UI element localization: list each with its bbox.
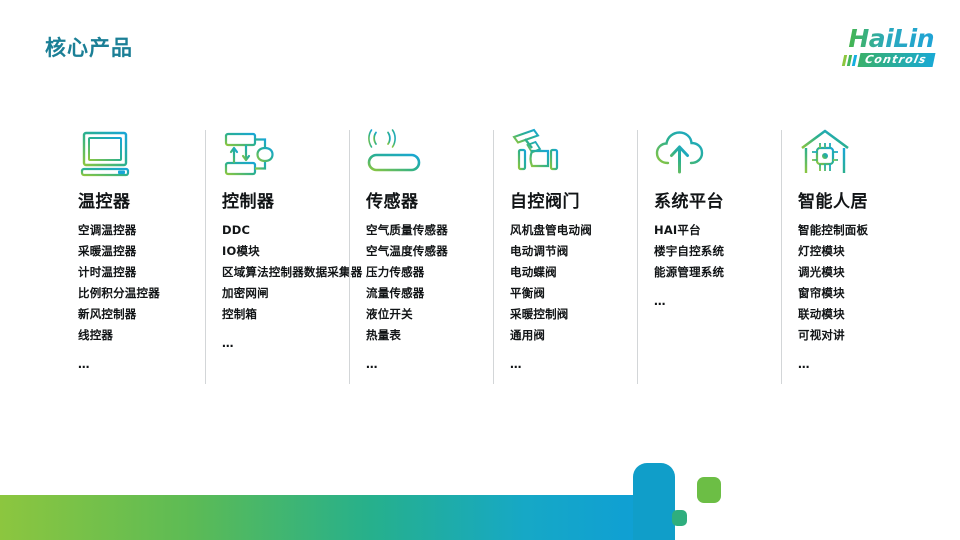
footer-hook-shape: [633, 463, 675, 540]
column-title: 智能人居: [798, 192, 942, 212]
product-column-thermostat: 温控器 空调温控器 采暖温控器 计时温控器 比例积分温控器 新风控制器 线控器 …: [78, 128, 222, 375]
product-column-sensor: 传感器 空气质量传感器 空气温度传感器 压力传感器 流量传感器 液位开关 热量表…: [366, 128, 510, 375]
list-item: 计时温控器: [78, 262, 222, 283]
list-item: 控制箱: [222, 304, 366, 325]
logo-wordmark: HaiLin: [812, 26, 934, 51]
column-item-list: 智能控制面板 灯控模块 调光模块 窗帘模块 联动模块 可视对讲 …: [798, 220, 942, 375]
wireless-sensor-icon: [366, 128, 424, 182]
column-title: 温控器: [78, 192, 222, 212]
decorative-square-small: [672, 510, 687, 526]
list-item: 窗帘模块: [798, 283, 942, 304]
list-item-more: …: [78, 354, 222, 375]
product-column-platform: 系统平台 HAI平台 楼宇自控系统 能源管理系统 …: [654, 128, 798, 375]
smart-home-chip-icon: [798, 128, 856, 182]
list-item: 平衡阀: [510, 283, 654, 304]
logo-subtitle: Controls: [858, 53, 936, 67]
list-item: 可视对讲: [798, 325, 942, 346]
list-item: IO模块: [222, 241, 366, 262]
brand-logo: HaiLin Controls: [812, 26, 934, 72]
column-divider: [205, 130, 206, 384]
list-item: 热量表: [366, 325, 510, 346]
slide-root: 核心产品 HaiLin Controls: [0, 0, 960, 540]
column-divider: [781, 130, 782, 384]
list-item: 风机盘管电动阀: [510, 220, 654, 241]
logo-subtitle-row: Controls: [812, 53, 934, 67]
page-title: 核心产品: [45, 38, 133, 59]
list-item-more: …: [654, 291, 798, 312]
column-title: 自控阀门: [510, 192, 654, 212]
list-item: 调光模块: [798, 262, 942, 283]
list-item: 采暖温控器: [78, 241, 222, 262]
list-item: 电动蝶阀: [510, 262, 654, 283]
list-item: 智能控制面板: [798, 220, 942, 241]
column-item-list: 空气质量传感器 空气温度传感器 压力传感器 流量传感器 液位开关 热量表 …: [366, 220, 510, 375]
column-item-list: 空调温控器 采暖温控器 计时温控器 比例积分温控器 新风控制器 线控器 …: [78, 220, 222, 375]
list-item: 联动模块: [798, 304, 942, 325]
column-title: 传感器: [366, 192, 510, 212]
list-item: 流量传感器: [366, 283, 510, 304]
monitor-icon: [78, 128, 136, 182]
list-item-more: …: [366, 354, 510, 375]
list-item-more: …: [798, 354, 942, 375]
list-item: 加密网闸: [222, 283, 366, 304]
list-item: 压力传感器: [366, 262, 510, 283]
list-item: 采暖控制阀: [510, 304, 654, 325]
list-item: 比例积分温控器: [78, 283, 222, 304]
list-item: 通用阀: [510, 325, 654, 346]
footer-gradient-bar: [0, 495, 640, 540]
column-divider: [637, 130, 638, 384]
column-item-list: HAI平台 楼宇自控系统 能源管理系统 …: [654, 220, 798, 312]
list-item: DDC: [222, 220, 366, 241]
list-item: 新风控制器: [78, 304, 222, 325]
column-title: 控制器: [222, 192, 366, 212]
product-column-controller: 控制器 DDC IO模块 区域算法控制器数据采集器 加密网闸 控制箱 …: [222, 128, 366, 375]
list-item: 灯控模块: [798, 241, 942, 262]
list-item-more: …: [222, 333, 366, 354]
column-item-list: 风机盘管电动阀 电动调节阀 电动蝶阀 平衡阀 采暖控制阀 通用阀 …: [510, 220, 654, 375]
cloud-upload-icon: [654, 128, 712, 182]
logo-bars-icon: [842, 55, 857, 66]
product-columns: 温控器 空调温控器 采暖温控器 计时温控器 比例积分温控器 新风控制器 线控器 …: [78, 128, 908, 375]
valve-icon: [510, 128, 568, 182]
controller-module-icon: [222, 128, 280, 182]
list-item-more: …: [510, 354, 654, 375]
list-item: 楼宇自控系统: [654, 241, 798, 262]
list-item: HAI平台: [654, 220, 798, 241]
column-item-list: DDC IO模块 区域算法控制器数据采集器 加密网闸 控制箱 …: [222, 220, 366, 354]
decorative-square-large: [697, 477, 721, 503]
list-item: 空气温度传感器: [366, 241, 510, 262]
list-item: 线控器: [78, 325, 222, 346]
list-item: 区域算法控制器数据采集器: [222, 262, 366, 283]
list-item: 能源管理系统: [654, 262, 798, 283]
product-column-smart-home: 智能人居 智能控制面板 灯控模块 调光模块 窗帘模块 联动模块 可视对讲 …: [798, 128, 942, 375]
product-column-valve: 自控阀门 风机盘管电动阀 电动调节阀 电动蝶阀 平衡阀 采暖控制阀 通用阀 …: [510, 128, 654, 375]
list-item: 液位开关: [366, 304, 510, 325]
list-item: 电动调节阀: [510, 241, 654, 262]
list-item: 空调温控器: [78, 220, 222, 241]
column-divider: [493, 130, 494, 384]
column-title: 系统平台: [654, 192, 798, 212]
column-divider: [349, 130, 350, 384]
list-item: 空气质量传感器: [366, 220, 510, 241]
